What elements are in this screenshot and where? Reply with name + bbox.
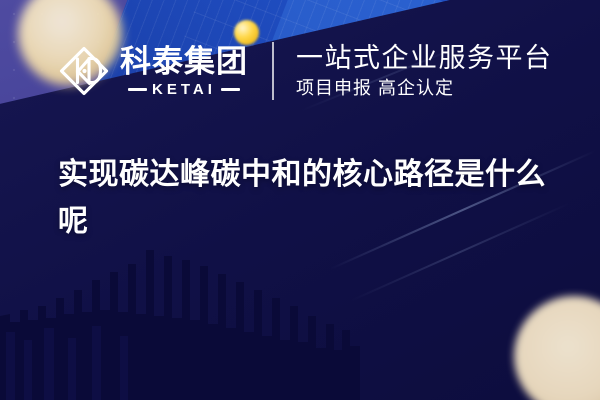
brand-name-en: KETAI (152, 82, 216, 97)
promo-banner: 科泰集团 KETAI 一站式企业服务平台 项目申报 高企认定 实现碳达峰碳中和的… (0, 0, 600, 400)
tagline-block: 一站式企业服务平台 项目申报 高企认定 (296, 44, 553, 99)
ketai-diamond-monogram-icon (58, 45, 110, 97)
city-skyline-silhouette-icon (0, 220, 360, 400)
dash-right-icon (221, 88, 240, 91)
dash-left-icon (128, 88, 147, 91)
page-title: 实现碳达峰碳中和的核心路径是什么呢 (58, 152, 558, 245)
vertical-divider-icon (272, 42, 274, 100)
brand-name-en-row: KETAI (128, 82, 240, 97)
tagline-main: 一站式企业服务平台 (296, 44, 553, 73)
brand-header: 科泰集团 KETAI 一站式企业服务平台 项目申报 高企认定 (58, 42, 553, 100)
brand-wordmark: 科泰集团 KETAI (120, 46, 248, 97)
brand-name-cn: 科泰集团 (120, 46, 248, 77)
tagline-sub: 项目申报 高企认定 (296, 79, 553, 99)
